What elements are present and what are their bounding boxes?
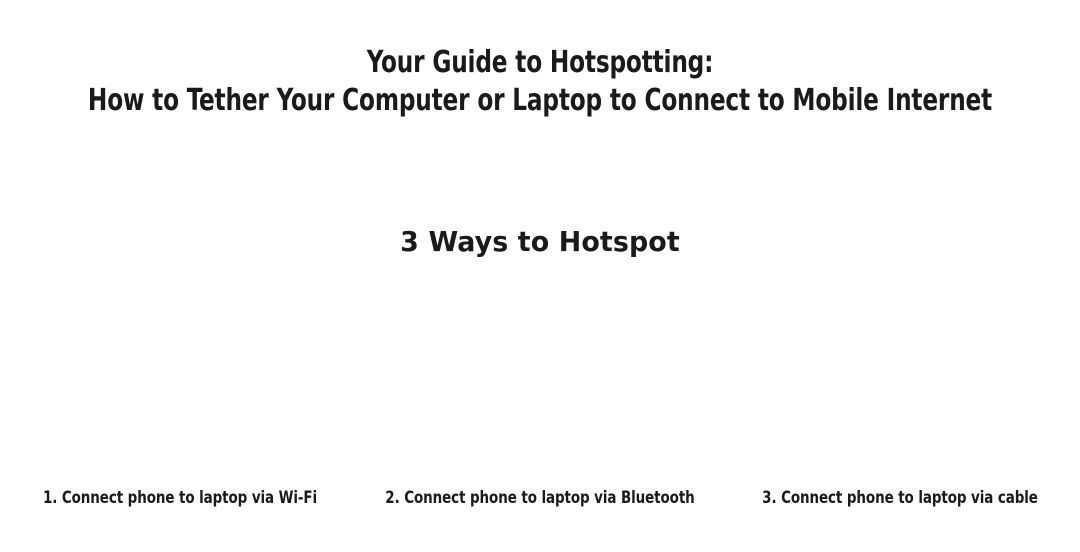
infographic-page: Your Guide to Hotspotting: How to Tether… xyxy=(0,0,1080,552)
page-title: Your Guide to Hotspotting: How to Tether… xyxy=(0,44,1080,120)
illustration-slot-bluetooth xyxy=(360,282,720,478)
illustration-area xyxy=(0,282,1080,478)
caption-row: 1. Connect phone to laptop via Wi-Fi 2. … xyxy=(0,486,1080,512)
illustration-slot-wifi xyxy=(0,282,360,478)
caption-cable: 3. Connect phone to laptop via cable xyxy=(742,486,1059,512)
title-line-1: Your Guide to Hotspotting: xyxy=(76,44,1005,82)
title-line-2: How to Tether Your Computer or Laptop to… xyxy=(76,82,1005,120)
illustration-slot-cable xyxy=(720,282,1080,478)
section-heading: 3 Ways to Hotspot xyxy=(22,224,1059,260)
caption-bluetooth: 2. Connect phone to laptop via Bluetooth xyxy=(382,486,699,512)
caption-wifi: 1. Connect phone to laptop via Wi-Fi xyxy=(22,486,339,512)
